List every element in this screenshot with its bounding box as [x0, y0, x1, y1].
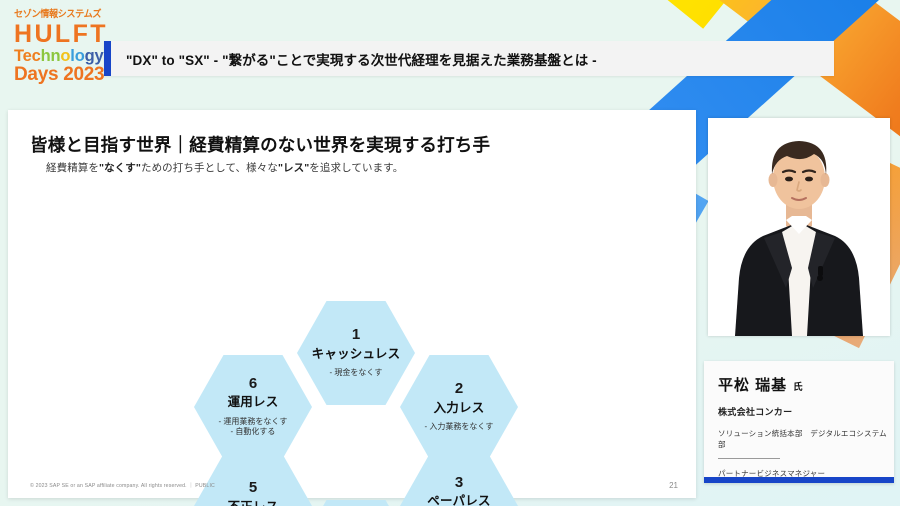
slide-canvas: 皆様と目指す世界｜経費精算のない世界を実現する打ち手 経費精算を"なくす"ための…: [8, 110, 696, 498]
hexagon-label: 不正レス: [228, 500, 279, 506]
logo-letter-n: n: [51, 47, 61, 65]
hexagon-label: 入力レス: [434, 401, 485, 415]
logo-company-kana: セゾン情報システムズ: [14, 10, 110, 20]
logo-technology-wordmark: Technology: [14, 48, 114, 65]
hexagon-label: ペーパレス: [427, 494, 490, 506]
presentation-screen: セゾン情報システムズ HULFT Technology Days 2023 "D…: [0, 0, 900, 506]
hexagon-number: 5: [249, 480, 257, 497]
slide-page-number: 21: [669, 481, 678, 490]
speaker-card-accent-bar: [704, 477, 894, 483]
hexagon-number: 1: [352, 327, 360, 344]
honeycomb-diagram: 1 キャッシュレス - 現金をなくす 2 入力レス - 入力業務をなくす 3 ペ…: [8, 110, 696, 498]
title-accent-bar: [104, 41, 111, 76]
event-logo: セゾン情報システムズ HULFT Technology Days 2023: [14, 10, 114, 84]
session-title-bar: "DX" to "SX" - "繋がる"ことで実現する次世代経理を見据えた業務基…: [104, 41, 834, 76]
speaker-name-suffix: 氏: [793, 382, 803, 393]
hexagon-cell-2: 2 入力レス - 入力業務をなくす: [400, 355, 518, 459]
hexagon-label: 運用レス: [228, 395, 279, 409]
hexagon-cell-6: 6 運用レス - 運用業務をなくす - 自動化する: [194, 355, 312, 459]
speaker-company: 株式会社コンカー: [718, 405, 894, 418]
hexagon-description: - 入力業務をなくす: [425, 422, 494, 433]
hexagon-cell-5: 5 不正レス - 不正をなくす: [194, 454, 312, 506]
logo-hulft-wordmark: HULFT: [14, 22, 114, 47]
logo-letter-o2: o: [75, 47, 85, 65]
slide-copyright: © 2023 SAP SE or an SAP affiliate compan…: [30, 482, 215, 489]
speaker-name: 平松 瑞基氏: [718, 374, 894, 395]
speaker-divider: [718, 458, 780, 459]
speaker-portrait: [708, 118, 890, 336]
logo-letter-t: T: [14, 47, 23, 65]
speaker-video-feed: [708, 118, 890, 336]
speaker-department: ソリューション統括本部 デジタルエコシステム部: [718, 428, 894, 450]
logo-letter-y: y: [94, 47, 103, 65]
hexagon-number: 2: [455, 381, 463, 398]
speaker-info-card: 平松 瑞基氏 株式会社コンカー ソリューション統括本部 デジタルエコシステム部 …: [704, 361, 894, 483]
logo-letter-e: e: [23, 47, 32, 65]
hexagon-cell-1: 1 キャッシュレス - 現金をなくす: [297, 301, 415, 405]
logo-letter-g: g: [85, 47, 95, 65]
hexagon-cell-3: 3 ペーパレス - 紙をなくす - 法律に対応する: [400, 454, 518, 506]
logo-days-2023: Days 2023: [14, 65, 114, 84]
hexagon-label: キャッシュレス: [312, 347, 401, 361]
hexagon-number: 3: [455, 475, 463, 492]
logo-letter-c: c: [32, 47, 41, 65]
hexagon-description: - 運用業務をなくす - 自動化する: [219, 417, 288, 439]
hexagon-description: - 現金をなくす: [330, 368, 383, 379]
session-title: "DX" to "SX" - "繋がる"ことで実現する次世代経理を見据えた業務基…: [126, 49, 597, 69]
hexagon-number: 6: [249, 376, 257, 393]
logo-letter-o: o: [60, 47, 70, 65]
logo-letter-h: h: [41, 47, 51, 65]
speaker-name-text: 平松 瑞基: [718, 377, 787, 394]
